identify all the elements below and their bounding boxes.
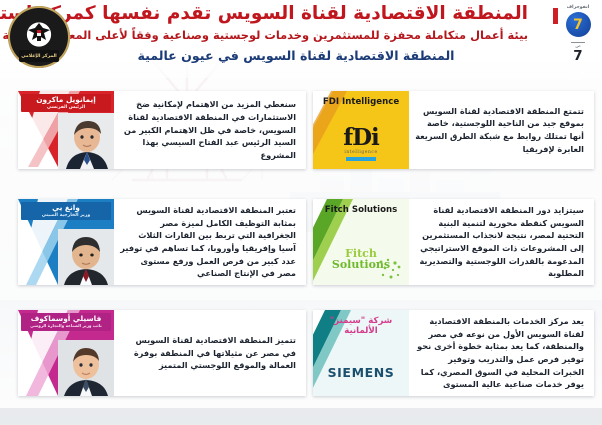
page-number-circle: 7 [566,12,591,37]
name-plate-macron: إيمانويل ماكرون الرئيس الفرنسي [21,94,111,112]
person-name: فاسيلي أوسماكوف [25,315,107,323]
portrait-macron [58,113,114,169]
quote-text: تعتبر المنطقة الاقتصادية لقناة السويس بم… [120,204,296,280]
logo-title-fitch: Fitch Solutions [313,206,409,216]
quote-card-wang-yi[interactable]: وانغ يي وزير الخارجية الصيني [18,199,306,285]
quote-text: سيتزايد دور المنطقة الاقتصادية لقناة الس… [415,204,584,280]
state-information-service-emblem: المركز الإعلامي [8,6,70,68]
quote-body-fitch: سيتزايد دور المنطقة الاقتصادية لقناة الس… [409,199,594,285]
quote-body-macron: سنعطي المزيد من الاهتمام لإمكانية ضخ الا… [114,91,306,169]
page-number-badge: انفوجراف 7 ص 7 [558,2,598,74]
fitch-dots-icon [377,257,403,281]
person-name: إيمانويل ماكرون [25,96,107,104]
person-role: وزير الخارجية الصيني [25,213,107,218]
fdi-subword: intelligence [313,150,409,155]
quote-card-fdi-intelligence[interactable]: FDI Intelligence fDi intelligence تتمتع … [313,91,594,169]
logo-title-siemens: شركة "سيمنز" الألمانية [313,317,409,337]
quote-body-wang-yi: تعتبر المنطقة الاقتصادية لقناة السويس بم… [114,199,306,285]
quote-body-siemens: يعد مركز الخدمات بالمنطقة الاقتصادية لقن… [409,310,594,396]
badge-divider [571,42,585,43]
person-photo-wang-yi [58,229,114,285]
eagle-of-saladin-icon [24,21,54,49]
person-panel-wang-yi: وانغ يي وزير الخارجية الصيني [18,199,114,285]
quote-body-fdi: تتمتع المنطقة الاقتصادية لقناة السويس بم… [409,91,594,169]
person-panel-macron: إيمانويل ماكرون الرئيس الفرنسي [18,91,114,169]
fdi-accent-bar [346,157,376,161]
person-role: الرئيس الفرنسي [25,105,107,110]
portrait-wang-yi [58,229,114,285]
infographic-page: المركز الإعلامي المنطقة الاقتصادية لقناة… [0,0,602,425]
header-titles: المنطقة الاقتصادية لقناة السويس تقدم نفس… [64,4,528,63]
logo-title-fdi: FDI Intelligence [313,98,409,108]
logo-panel-fitch: Fitch Solutions Fitch Solutions [313,199,409,285]
person-name: وانغ يي [25,204,107,212]
quote-card-siemens[interactable]: شركة "سيمنز" الألمانية SIEMENS يعد مركز … [313,310,594,396]
siemens-wordmark: SIEMENS [313,365,409,380]
emblem-banner: المركز الإعلامي [19,50,59,62]
badge-top-label: انفوجراف [567,5,590,10]
person-panel-osmakov: فاسيلي أوسماكوف نائب وزير الصناعة والتجا… [18,310,114,396]
fdi-wordmark: fDi [313,128,409,149]
name-plate-osmakov: فاسيلي أوسماكوف نائب وزير الصناعة والتجا… [21,313,111,331]
section-title: المنطقة الاقتصادية لقناة السويس في عيون … [64,48,528,63]
logo-panel-siemens: شركة "سيمنز" الألمانية SIEMENS [313,310,409,396]
quote-text: يعد مركز الخدمات بالمنطقة الاقتصادية لقن… [415,315,584,391]
quote-card-macron[interactable]: إيمانويل ماكرون الرئيس الفرنسي [18,91,306,169]
quote-card-fitch-solutions[interactable]: Fitch Solutions Fitch Solutions سيت [313,199,594,285]
person-photo-macron [58,113,114,169]
page-title: المنطقة الاقتصادية لقناة السويس تقدم نفس… [64,4,528,25]
person-role: نائب وزير الصناعة والتجارة الروسي [25,324,107,329]
quote-text: تتميز المنطقة الاقتصادية لقناة السويس في… [120,334,296,372]
quote-body-osmakov: تتميز المنطقة الاقتصادية لقناة السويس في… [114,310,306,396]
portrait-osmakov [58,340,114,396]
page-number-text: 7 [573,50,582,64]
quote-text: تتمتع المنطقة الاقتصادية لقناة السويس بم… [415,105,584,156]
quote-card-osmakov[interactable]: فاسيلي أوسماكوف نائب وزير الصناعة والتجا… [18,310,306,396]
logo-title-line-2: الألمانية [313,327,409,337]
person-photo-osmakov [58,340,114,396]
page-subtitle: بيئة أعمال متكاملة محفزة للمستثمرين وخدم… [64,28,528,42]
logo-mark-siemens: SIEMENS [313,365,409,380]
quote-text: سنعطي المزيد من الاهتمام لإمكانية ضخ الا… [120,98,296,162]
logo-panel-fdi: FDI Intelligence fDi intelligence [313,91,409,169]
logo-mark-fdi: fDi intelligence [313,128,409,161]
header-bar: المركز الإعلامي المنطقة الاقتصادية لقناة… [0,0,602,78]
name-plate-wang-yi: وانغ يي وزير الخارجية الصيني [21,202,111,220]
